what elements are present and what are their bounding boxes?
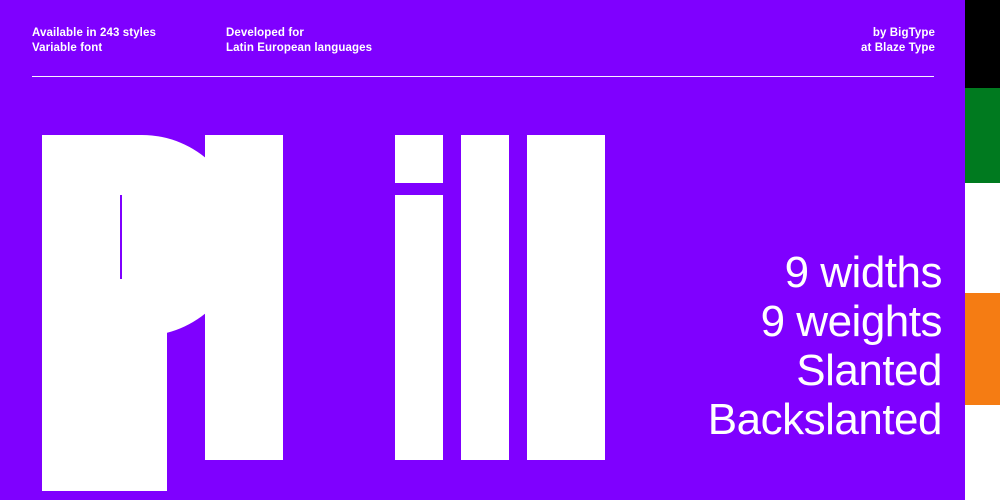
header-center-line1: Developed for: [226, 26, 372, 41]
outline-guide-5: [509, 135, 511, 460]
outline-guide-3: [395, 183, 443, 185]
glyph-h-stem: [205, 135, 283, 460]
header-row: Available in 243 styles Variable font De…: [32, 26, 935, 56]
header-center-block: Developed for Latin European languages: [226, 26, 372, 56]
display-word-phill: [42, 135, 612, 460]
outline-guide-4: [443, 135, 445, 460]
header-left-line2: Variable font: [32, 41, 156, 56]
outline-guide-6: [525, 135, 527, 460]
feature-item-widths: 9 widths: [622, 248, 942, 297]
poster-header: Available in 243 styles Variable font De…: [0, 0, 965, 78]
header-right-block: by BigType at Blaze Type: [861, 26, 935, 56]
glyph-i-stem: [395, 195, 443, 460]
header-left-line1: Available in 243 styles: [32, 26, 156, 41]
glyph-l-second-stem: [527, 135, 605, 460]
feature-item-weights: 9 weights: [622, 297, 942, 346]
outline-guide-2: [283, 261, 285, 460]
swatch-white: [965, 183, 1000, 293]
header-center-line2: Latin European languages: [226, 41, 372, 56]
glyph-i-dot: [395, 135, 443, 185]
swatch-orange: [965, 293, 1000, 405]
swatch-white2: [965, 405, 1000, 500]
header-divider-rule: [32, 76, 934, 77]
feature-item-backslanted: Backslanted: [622, 395, 942, 444]
color-strip: [965, 0, 1000, 500]
outline-guide-1: [120, 195, 122, 279]
header-right-line2: at Blaze Type: [861, 41, 935, 56]
type-specimen-poster: Available in 243 styles Variable font De…: [0, 0, 1000, 500]
swatch-black: [965, 0, 1000, 88]
glyph-l-first-stem: [461, 135, 509, 460]
header-left-block: Available in 243 styles Variable font: [32, 26, 156, 56]
swatch-green: [965, 88, 1000, 183]
header-right-line1: by BigType: [861, 26, 935, 41]
glyph-h-counter: [42, 491, 87, 500]
feature-item-slanted: Slanted: [622, 346, 942, 395]
feature-list: 9 widths 9 weights Slanted Backslanted: [622, 248, 942, 444]
